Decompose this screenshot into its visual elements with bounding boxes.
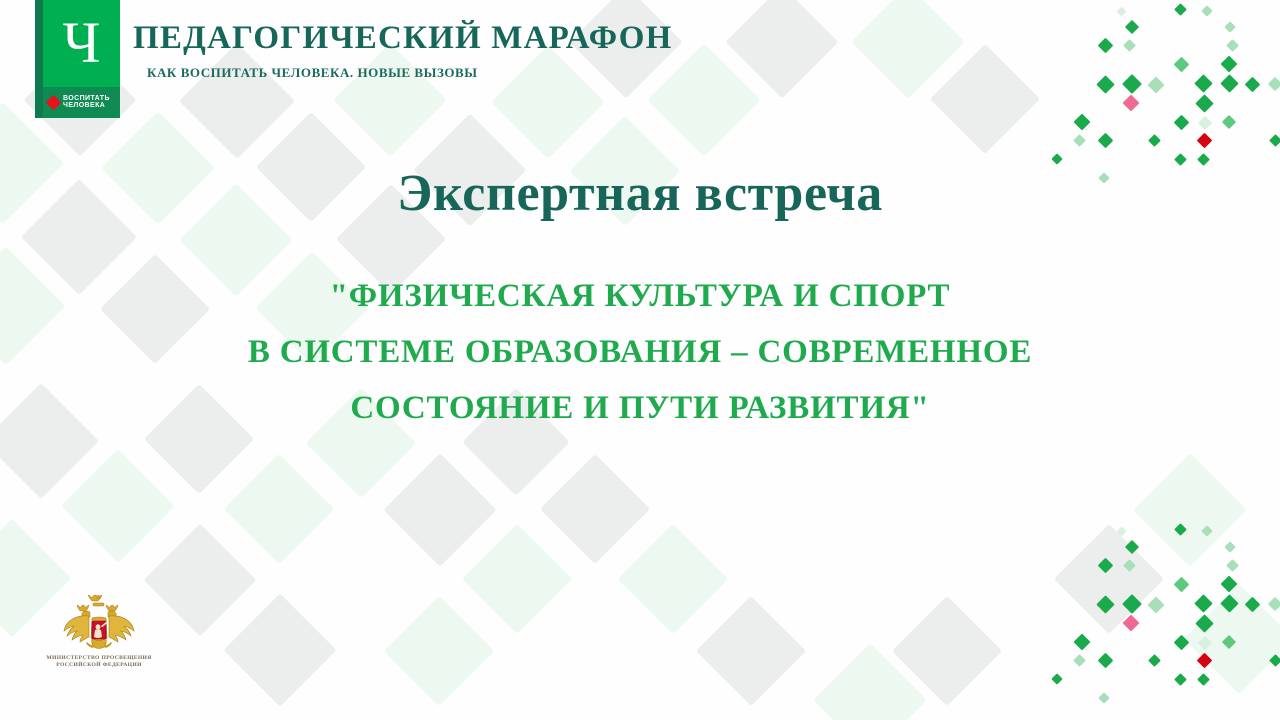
- decorative-diamond: [1221, 576, 1238, 593]
- decorative-diamond: [1174, 673, 1187, 686]
- brand-title: ПЕДАГОГИЧЕСКИЙ МАРАФОН: [133, 22, 672, 55]
- badge-footer-line1: ВОСПИТАТЬ: [63, 95, 110, 102]
- decorative-diamond: [1125, 540, 1139, 554]
- watermark-diamond: [696, 596, 806, 706]
- decorative-diamond: [1096, 595, 1114, 613]
- decorative-diamond: [1197, 133, 1213, 149]
- decorative-diamond: [1222, 635, 1236, 649]
- decorative-diamond: [1148, 134, 1161, 147]
- decorative-diamond: [1098, 558, 1114, 574]
- watermark-diamond: [1184, 584, 1280, 694]
- slide-header: Ч ВОСПИТАТЬ ЧЕЛОВЕКА ПЕДАГОГИЧЕСКИЙ МАРА…: [0, 0, 1280, 122]
- decorative-diamond: [1269, 134, 1280, 147]
- decorative-diamond: [1123, 615, 1140, 632]
- decorative-diamond: [1197, 653, 1213, 669]
- page-title: Экспертная встреча: [0, 168, 1280, 220]
- decorative-diamond: [1224, 541, 1235, 552]
- decorative-diamond: [1073, 134, 1086, 147]
- decorative-diamond: [1269, 654, 1280, 667]
- red-diamond-icon: [46, 94, 62, 110]
- decorative-diamond: [1051, 153, 1062, 164]
- watermark-diamond: [540, 454, 650, 564]
- watermark-diamond: [61, 449, 174, 562]
- watermark-diamond: [462, 524, 572, 634]
- decorative-diamond: [1201, 525, 1212, 536]
- event-subtitle-line-1: "ФИЗИЧЕСКАЯ КУЛЬТУРА И СПОРТ: [0, 268, 1280, 324]
- decorative-diamond: [1122, 594, 1142, 614]
- decorative-diamond: [1098, 692, 1109, 703]
- decorative-diamond: [1220, 594, 1238, 612]
- watermark-diamond: [224, 454, 334, 564]
- badge-letter-che: Ч: [63, 14, 101, 72]
- decorative-diamond: [1226, 559, 1239, 572]
- decorative-diamond: [1194, 594, 1212, 612]
- decorative-diamond: [1117, 527, 1127, 537]
- watermark-diamond: [892, 596, 1002, 706]
- decorative-diamond: [1148, 597, 1165, 614]
- russian-coat-of-arms-icon: [62, 594, 136, 652]
- watermark-diamond: [618, 524, 728, 634]
- badge-footer-text: ВОСПИТАТЬ ЧЕЛОВЕКА: [63, 95, 110, 110]
- decorative-diamond: [1198, 636, 1212, 650]
- decorative-diamond: [1098, 653, 1114, 669]
- decorative-diamond: [1195, 614, 1213, 632]
- ministry-caption-line1: МИНИСТЕРСТВО ПРОСВЕЩЕНИЯ: [46, 655, 151, 662]
- decorative-diamond: [1123, 559, 1136, 572]
- decorative-diamond: [1174, 635, 1190, 651]
- decorative-diamond: [1268, 597, 1280, 611]
- decorative-diamond: [1148, 654, 1161, 667]
- badge-footer: ВОСПИТАТЬ ЧЕЛОВЕКА: [43, 87, 120, 118]
- watermark-diamond: [1133, 453, 1246, 566]
- decorative-diamond: [1051, 673, 1062, 684]
- brand-badge-logo: Ч ВОСПИТАТЬ ЧЕЛОВЕКА: [35, 0, 120, 118]
- decorative-diamond: [1197, 673, 1210, 686]
- decorative-diamond: [1174, 523, 1187, 536]
- decorative-diamond: [1174, 577, 1190, 593]
- brand-text-block: ПЕДАГОГИЧЕСКИЙ МАРАФОН КАК ВОСПИТАТЬ ЧЕЛ…: [133, 22, 672, 81]
- decorative-diamond: [1098, 133, 1114, 149]
- decorative-diamond-cluster-bottom-right: [1030, 520, 1280, 720]
- brand-subtitle: КАК ВОСПИТАТЬ ЧЕЛОВЕКА. НОВЫЕ ВЫЗОВЫ: [147, 65, 672, 81]
- watermark-diamond: [813, 643, 926, 720]
- ministry-logo: МИНИСТЕРСТВО ПРОСВЕЩЕНИЯ РОССИЙСКОЙ ФЕДЕ…: [24, 594, 174, 690]
- watermark-diamond: [1054, 524, 1164, 634]
- event-subtitle-line-3: СОСТОЯНИЕ И ПУТИ РАЗВИТИЯ": [0, 380, 1280, 436]
- decorative-diamond: [1073, 654, 1086, 667]
- decorative-diamond: [1074, 634, 1091, 651]
- decorative-diamond: [1245, 597, 1261, 613]
- ministry-caption: МИНИСТЕРСТВО ПРОСВЕЩЕНИЯ РОССИЙСКОЙ ФЕДЕ…: [46, 655, 151, 669]
- decorative-diamond: [1174, 153, 1187, 166]
- ministry-caption-line2: РОССИЙСКОЙ ФЕДЕРАЦИИ: [46, 662, 151, 669]
- event-subtitle: "ФИЗИЧЕСКАЯ КУЛЬТУРА И СПОРТВ СИСТЕМЕ ОБ…: [0, 268, 1280, 436]
- watermark-diamond: [383, 453, 496, 566]
- watermark-diamond: [223, 593, 336, 706]
- decorative-diamond: [1197, 153, 1210, 166]
- event-subtitle-line-2: В СИСТЕМЕ ОБРАЗОВАНИЯ – СОВРЕМЕННОЕ: [0, 324, 1280, 380]
- badge-footer-line2: ЧЕЛОВЕКА: [63, 102, 110, 109]
- presentation-slide: Ч ВОСПИТАТЬ ЧЕЛОВЕКА ПЕДАГОГИЧЕСКИЙ МАРА…: [0, 0, 1280, 720]
- watermark-diamond: [384, 596, 494, 706]
